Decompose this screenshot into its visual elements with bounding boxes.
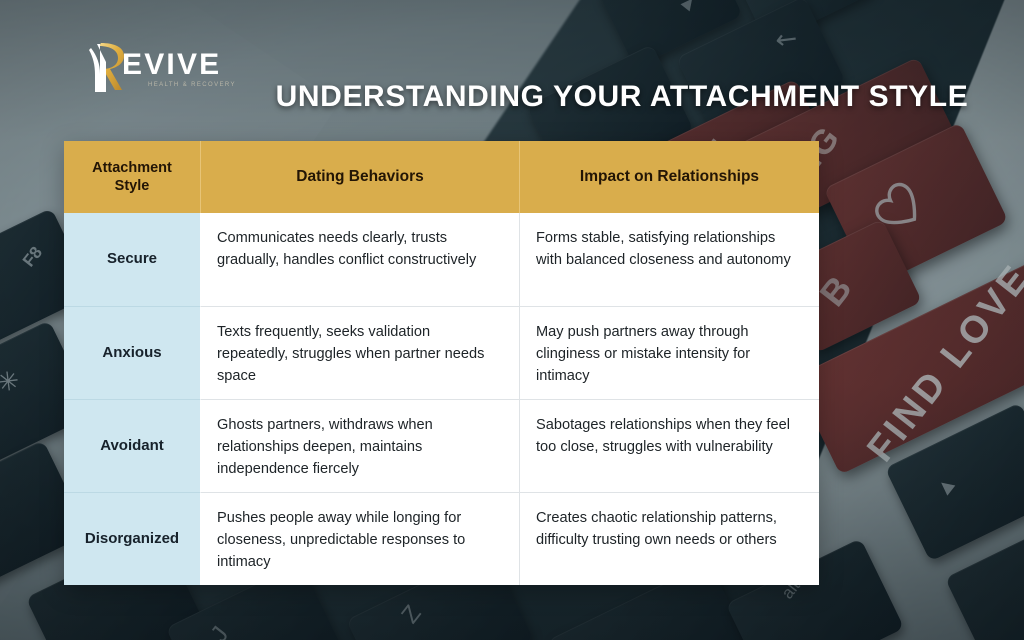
cell-dating-behaviors: Communicates needs clearly, trusts gradu… bbox=[200, 213, 519, 306]
cell-impact: Creates chaotic relationship patterns, d… bbox=[519, 492, 819, 585]
cell-impact: May push partners away through clingines… bbox=[519, 306, 819, 399]
table-row: Disorganized Pushes people away while lo… bbox=[64, 492, 819, 585]
logo-wordmark: EVIVE bbox=[122, 50, 221, 80]
attachment-style-table: Attachment Style Dating Behaviors Impact… bbox=[64, 141, 819, 585]
brand-logo[interactable]: EVIVE HEALTH & RECOVERY bbox=[88, 42, 278, 94]
table-header-row: Attachment Style Dating Behaviors Impact… bbox=[64, 141, 819, 213]
table-row: Secure Communicates needs clearly, trust… bbox=[64, 213, 819, 306]
table-body: Secure Communicates needs clearly, trust… bbox=[64, 213, 819, 585]
table-row: Anxious Texts frequently, seeks validati… bbox=[64, 306, 819, 399]
cell-dating-behaviors: Ghosts partners, withdraws when relation… bbox=[200, 399, 519, 492]
table-row: Avoidant Ghosts partners, withdraws when… bbox=[64, 399, 819, 492]
cell-attachment-style: Secure bbox=[64, 213, 200, 306]
column-header-attachment-style: Attachment Style bbox=[64, 141, 200, 213]
cell-dating-behaviors: Pushes people away while longing for clo… bbox=[200, 492, 519, 585]
column-header-impact: Impact on Relationships bbox=[519, 141, 819, 213]
page-title: UNDERSTANDING YOUR ATTACHMENT STYLE bbox=[272, 80, 972, 114]
cell-attachment-style: Anxious bbox=[64, 306, 200, 399]
cell-attachment-style: Disorganized bbox=[64, 492, 200, 585]
cell-attachment-style: Avoidant bbox=[64, 399, 200, 492]
cell-impact: Forms stable, satisfying relationships w… bbox=[519, 213, 819, 306]
infographic-canvas: ▶‖ ↖ INE NG B FIND LOVE ▲ bbox=[0, 0, 1024, 640]
cell-dating-behaviors: Texts frequently, seeks validation repea… bbox=[200, 306, 519, 399]
cell-impact: Sabotages relationships when they feel t… bbox=[519, 399, 819, 492]
column-header-dating-behaviors: Dating Behaviors bbox=[200, 141, 519, 213]
logo-tagline: HEALTH & RECOVERY bbox=[148, 82, 236, 88]
